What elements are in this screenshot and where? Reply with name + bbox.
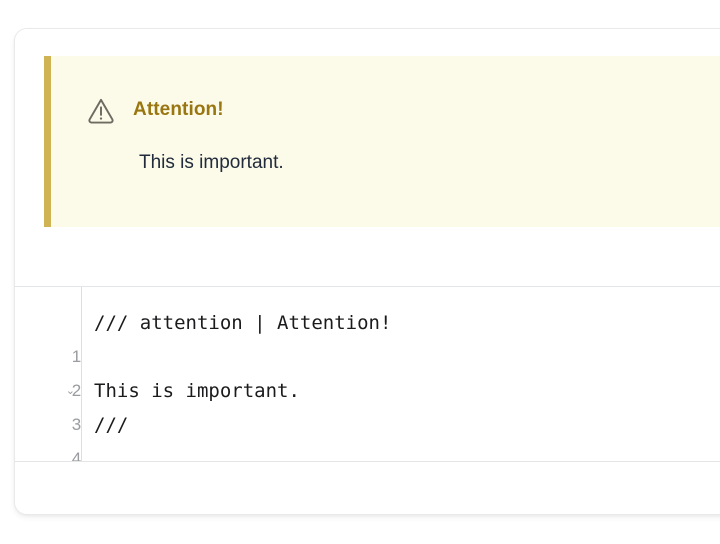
- code-line[interactable]: This is important.: [94, 374, 720, 408]
- rendered-preview-pane: Attention! This is important.: [15, 29, 720, 287]
- code-pane-footer: [15, 462, 720, 514]
- callout-accent-bar: [44, 56, 51, 227]
- line-number[interactable]: 2: [15, 340, 81, 374]
- code-line[interactable]: ///: [94, 408, 720, 442]
- attention-callout: Attention! This is important.: [44, 56, 720, 227]
- preview-card: Attention! This is important. 1 2: [14, 28, 720, 515]
- callout-body: Attention! This is important.: [51, 56, 720, 227]
- callout-title: Attention!: [133, 99, 224, 121]
- gutter-top-padding: [15, 287, 81, 306]
- warning-triangle-icon: [86, 95, 116, 125]
- code-line[interactable]: [94, 340, 720, 374]
- line-number[interactable]: 1: [15, 306, 81, 340]
- code-top-padding: [94, 287, 720, 306]
- callout-message: This is important.: [139, 152, 284, 174]
- code-content[interactable]: /// attention | Attention! This is impor…: [94, 287, 720, 461]
- code-line[interactable]: /// attention | Attention!: [94, 306, 720, 340]
- chevron-down-icon[interactable]: ⌄: [66, 374, 75, 408]
- line-number[interactable]: 3 ⌄: [15, 374, 81, 408]
- line-number[interactable]: 4: [15, 408, 81, 442]
- line-number-label: 4: [72, 449, 81, 462]
- callout-header: Attention!: [86, 95, 224, 125]
- line-number-gutter: 1 2 3 ⌄ 4: [15, 287, 82, 461]
- code-editor[interactable]: 1 2 3 ⌄ 4: [15, 287, 720, 462]
- screenshot-root: Attention! This is important. 1 2: [0, 0, 720, 544]
- source-code-pane: 1 2 3 ⌄ 4: [15, 287, 720, 514]
